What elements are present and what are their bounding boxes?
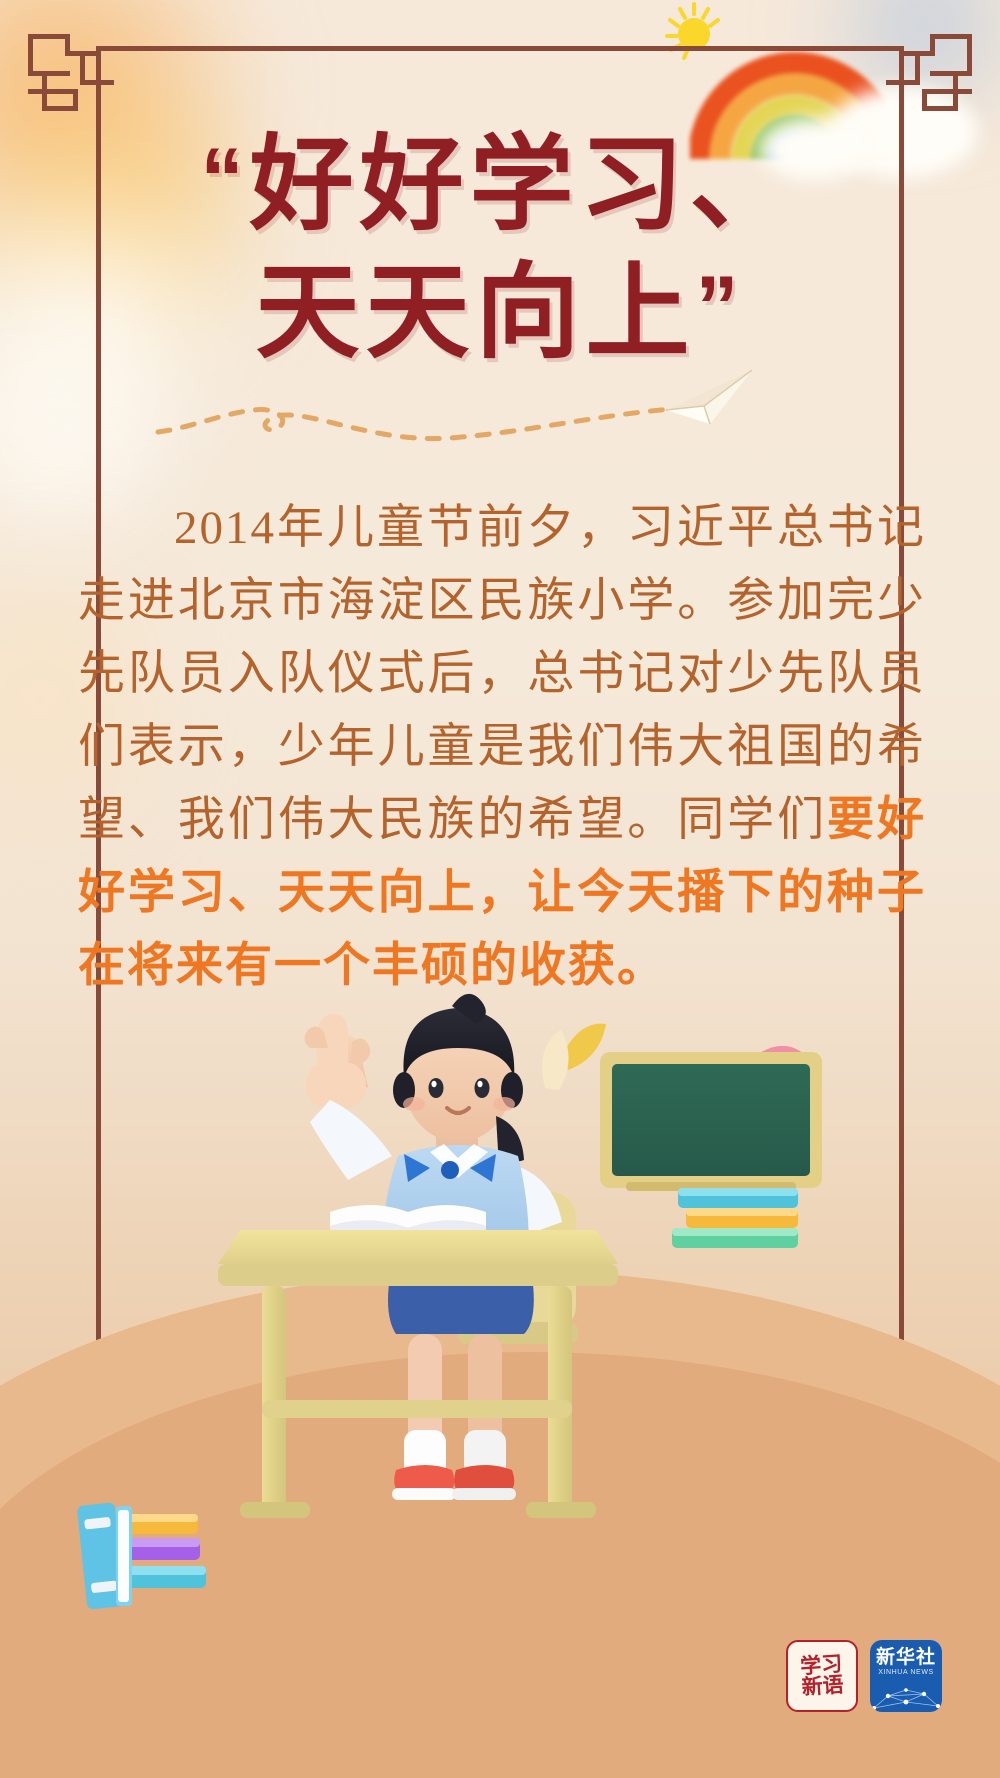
corner-ornament-top-left (28, 34, 120, 126)
body-text-normal: 2014年儿童节前夕，习近平总书记走进北京市海淀区民族小学。参加完少先队员入队仪… (78, 502, 926, 846)
title-close-quote: ” (696, 259, 745, 355)
xinhua-logo-zh: 新华社 (876, 1648, 936, 1668)
xuexi-xinyu-logo[interactable]: 学习 新语 (786, 1640, 858, 1712)
title-line-1: “好好学习、 (0, 118, 1000, 246)
frame-top-line (96, 46, 904, 51)
dashed-trail (150, 398, 690, 458)
title-line-2-text: 天天向上 (255, 255, 695, 371)
xinhua-logo-en: XINHUA NEWS (878, 1669, 934, 1676)
xinhua-news-logo[interactable]: 新华社 XINHUA NEWS (870, 1640, 942, 1712)
title-line-2: 天天向上” (0, 246, 1000, 374)
poster-canvas: “好好学习、 天天向上” 2014年儿童节前夕，习近平总书记走进北京市海淀区民族… (0, 0, 1000, 1778)
corner-ornament-top-right (880, 34, 972, 126)
body-paragraph: 2014年儿童节前夕，习近平总书记走进北京市海淀区民族小学。参加完少先队员入队仪… (78, 492, 926, 1003)
xuexi-xinyu-logo-text: 学习 新语 (800, 1654, 845, 1699)
books-stack-icon (672, 1188, 798, 1248)
paper-plane-icon (664, 366, 754, 428)
network-icon (870, 1684, 942, 1712)
title-open-quote: “ (200, 131, 249, 227)
books-stack-left-icon (68, 1496, 218, 1626)
poster-title: “好好学习、 天天向上” (0, 118, 1000, 374)
title-line-1-text: 好好学习、 (249, 127, 799, 243)
blackboard-icon (600, 1052, 822, 1191)
xuexi-line-2: 新语 (801, 1673, 845, 1700)
logo-group: 学习 新语 新华社 XINHUA NEWS (786, 1640, 946, 1714)
